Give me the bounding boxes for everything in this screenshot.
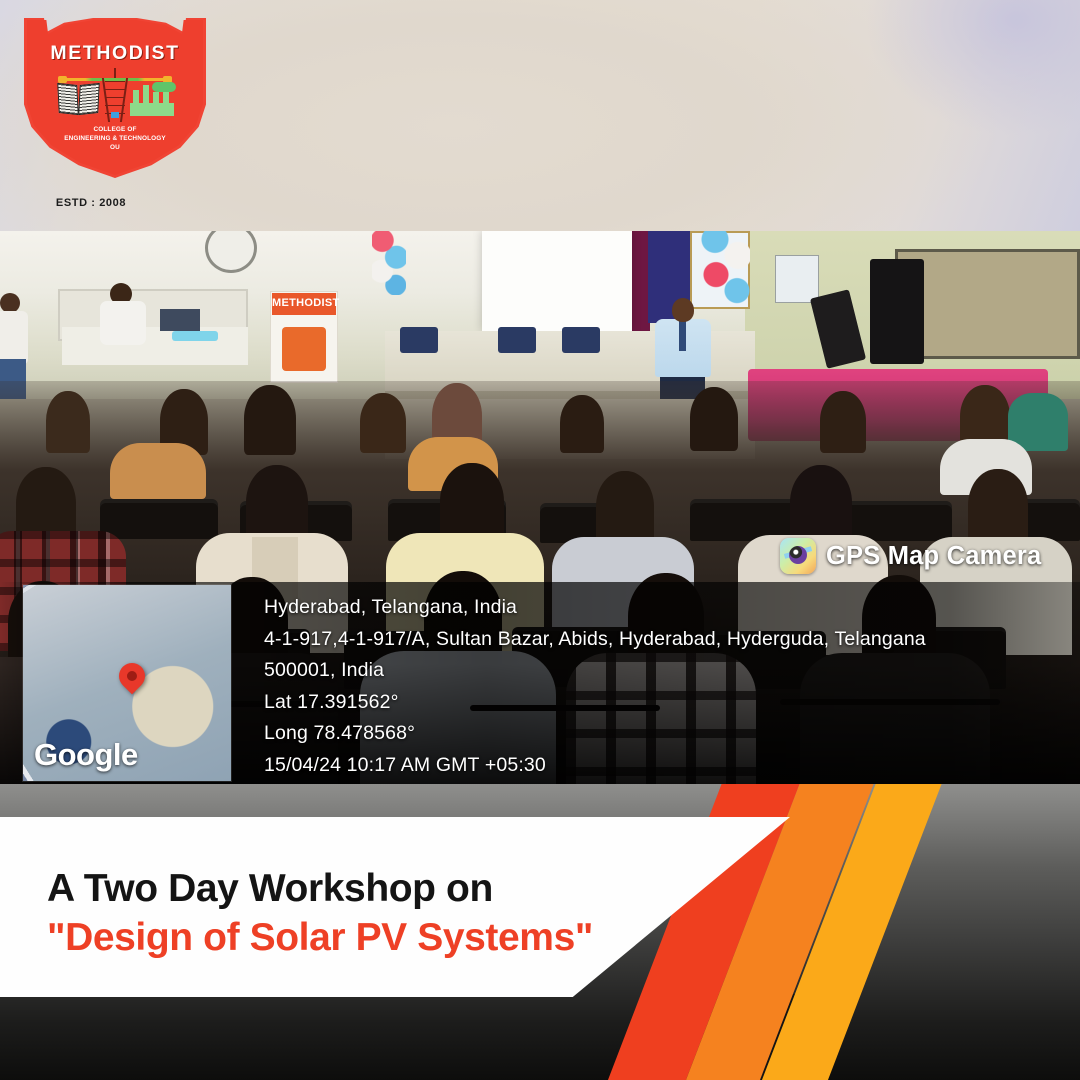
factory-icon [130,84,174,116]
projector-screen [482,231,632,331]
logo-college-subtitle: COLLEGE OF ENGINEERING & TECHNOLOGY OU [24,125,206,152]
college-logo: METHODIST COLLEGE OF ENGINEERING & TECHN… [24,18,206,178]
gps-map-camera-badge: GPS Map Camera [780,538,1041,574]
established-year: ESTD : 2008 [0,197,182,209]
map-thumbnail[interactable]: Google [23,585,231,781]
gps-app-name: GPS Map Camera [826,542,1041,571]
methodist-standee-label: METHODIST [272,297,336,309]
event-poster: METHODIST COLLEGE OF ENGINEERING & TECHN… [0,0,1080,1080]
gps-longitude: Long 78.478568° [264,718,1054,750]
logo-subtitle-line-3: OU [24,143,206,152]
logo-subtitle-line-2: ENGINEERING & TECHNOLOGY [24,134,206,143]
logo-subtitle-line-1: COLLEGE OF [24,125,206,134]
logo-college-name: METHODIST [24,42,206,65]
poster-footer: A Two Day Workshop on "Design of Solar P… [0,784,1080,1080]
poster-header: METHODIST COLLEGE OF ENGINEERING & TECHN… [0,0,1080,231]
gps-location-details: Hyderabad, Telangana, India 4-1-917,4-1-… [264,592,1054,781]
gps-timestamp: 15/04/24 10:17 AM GMT +05:30 [264,750,1054,782]
gps-city: Hyderabad, Telangana, India [264,592,1054,624]
workshop-title-line-2: "Design of Solar PV Systems" [47,916,593,960]
gps-postal: 500001, India [264,655,1054,687]
gps-address: 4-1-917,4-1-917/A, Sultan Bazar, Abids, … [264,624,1054,656]
gps-map-camera-icon [780,538,816,574]
workshop-title-line-1: A Two Day Workshop on [47,867,493,911]
gps-latitude: Lat 17.391562° [264,687,1054,719]
transmission-tower-icon [102,72,128,122]
emblem-icons [54,70,176,122]
google-watermark: Google [34,737,138,773]
open-book-icon [58,84,100,114]
